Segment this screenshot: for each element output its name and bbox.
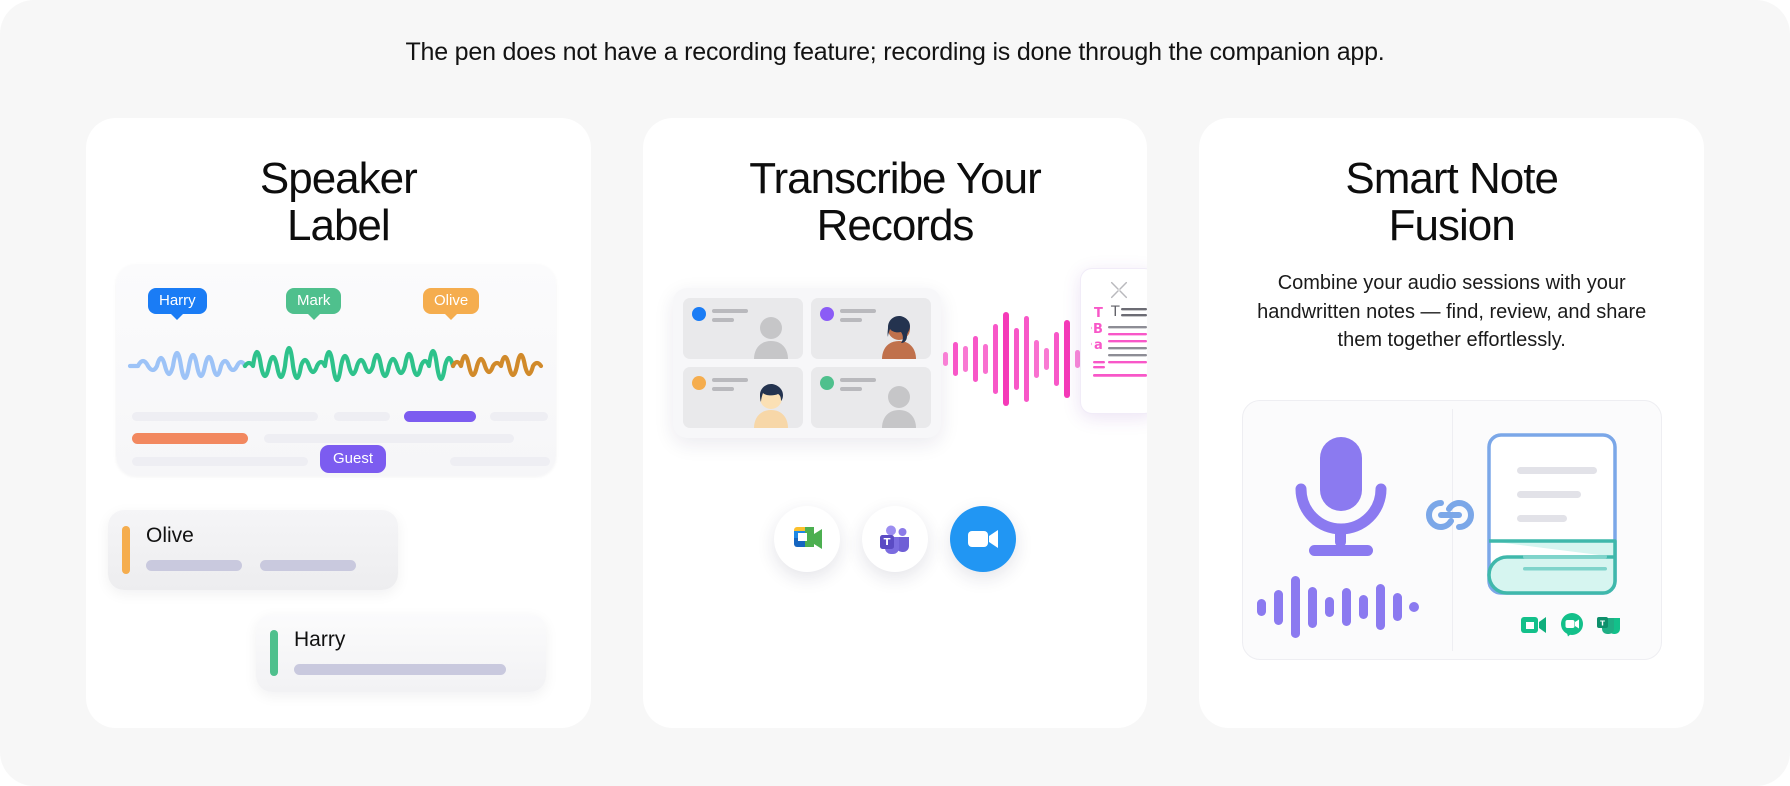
participant-tile (683, 298, 803, 359)
avatar-placeholder-icon (873, 382, 925, 428)
svg-text:a: a (1094, 338, 1103, 353)
participant-status-dot (692, 376, 706, 390)
speaker-row-olive[interactable]: Olive (108, 510, 398, 590)
skeleton-line (260, 560, 356, 571)
speaker-accent-bar (122, 526, 130, 574)
skeleton-line-highlight (132, 433, 248, 444)
skeleton-line (450, 457, 550, 466)
svg-text:T: T (1094, 306, 1103, 321)
participant-tile (811, 298, 931, 359)
participant-status-dot (820, 376, 834, 390)
skeleton-line (132, 412, 318, 421)
audio-spectrum-icon (943, 294, 1083, 424)
speaker-accent-bar (270, 630, 278, 676)
card-description-smart-note-fusion: Combine your audio sessions with your ha… (1232, 269, 1672, 354)
card-title-smart-note-fusion: Smart Note Fusion (1199, 156, 1704, 249)
audio-waveform-icon (124, 326, 548, 404)
speaker-tag-mark[interactable]: Mark (286, 288, 341, 314)
skeleton-line (712, 378, 748, 382)
note-source-icon-list: T (1521, 613, 1621, 637)
waveform-panel: Harry Mark Olive (116, 264, 556, 476)
transcript-lines-icon: T B a T (1091, 301, 1148, 393)
skeleton-line (712, 387, 734, 391)
svg-text:T: T (1110, 304, 1120, 320)
avatar-placeholder-icon (745, 313, 797, 359)
fusion-panel: T (1242, 400, 1662, 660)
speaker-tag-olive[interactable]: Olive (423, 288, 479, 314)
google-meet-mono-icon[interactable] (1561, 613, 1583, 637)
audio-waveform-icon (1255, 569, 1435, 643)
video-participants-grid (673, 288, 941, 438)
microsoft-teams-icon[interactable]: T (862, 506, 928, 572)
guest-pill[interactable]: Guest (320, 445, 386, 473)
feature-card-speaker-label[interactable]: Speaker Label Harry Mark Olive (86, 118, 591, 728)
avatar-person-light-icon (745, 382, 797, 428)
feature-card-list: Speaker Label Harry Mark Olive (86, 118, 1704, 728)
speaker-tag-mark-label: Mark (297, 292, 330, 309)
participant-status-dot (692, 307, 706, 321)
skeleton-line (840, 318, 862, 322)
google-meet-icon[interactable] (774, 506, 840, 572)
page-headline: The pen does not have a recording featur… (0, 38, 1790, 67)
participant-tile (683, 367, 803, 428)
skeleton-line (840, 378, 876, 382)
transcribe-illustration: T B a T (643, 266, 1148, 716)
skeleton-line (294, 664, 506, 675)
transcript-document-card[interactable]: T B a T (1080, 268, 1148, 414)
svg-text:B: B (1093, 322, 1103, 337)
speaker-tag-olive-label: Olive (434, 292, 468, 309)
speaker-row-name: Olive (146, 524, 194, 548)
skeleton-line-highlight (404, 411, 476, 422)
speaker-row-harry[interactable]: Harry (256, 614, 546, 692)
participant-tile (811, 367, 931, 428)
card-title-transcribe-records: Transcribe Your Records (643, 156, 1148, 249)
sparkle-x-icon (1108, 279, 1130, 301)
zoom-icon[interactable] (950, 506, 1016, 572)
speaker-row-name: Harry (294, 628, 345, 652)
video-camera-icon[interactable] (1521, 615, 1547, 635)
skeleton-line (840, 387, 862, 391)
meeting-app-icon-list: T (643, 506, 1148, 572)
svg-text:T: T (1600, 619, 1605, 627)
skeleton-line (264, 434, 514, 443)
skeleton-line (132, 457, 308, 466)
avatar-person-dark-icon (873, 313, 925, 359)
skeleton-line (146, 560, 242, 571)
skeleton-line (712, 318, 734, 322)
speaker-tag-harry[interactable]: Harry (148, 288, 207, 314)
link-chain-icon (1411, 491, 1489, 539)
promo-page: The pen does not have a recording featur… (0, 0, 1790, 786)
feature-card-smart-note-fusion[interactable]: Smart Note Fusion Combine your audio ses… (1199, 118, 1704, 728)
skeleton-line (840, 309, 876, 313)
speaker-tag-harry-label: Harry (159, 292, 196, 309)
participant-status-dot (820, 307, 834, 321)
skeleton-line (712, 309, 748, 313)
skeleton-line (490, 412, 548, 421)
speaker-label-illustration: Harry Mark Olive (86, 264, 591, 724)
handwritten-note-icon (1483, 431, 1623, 601)
feature-card-transcribe-records[interactable]: Transcribe Your Records (643, 118, 1148, 728)
svg-text:T: T (884, 537, 891, 548)
microsoft-teams-mono-icon[interactable]: T (1597, 614, 1621, 636)
card-title-speaker-label: Speaker Label (86, 156, 591, 249)
skeleton-line (334, 412, 390, 421)
smart-note-fusion-illustration: T (1199, 400, 1704, 690)
